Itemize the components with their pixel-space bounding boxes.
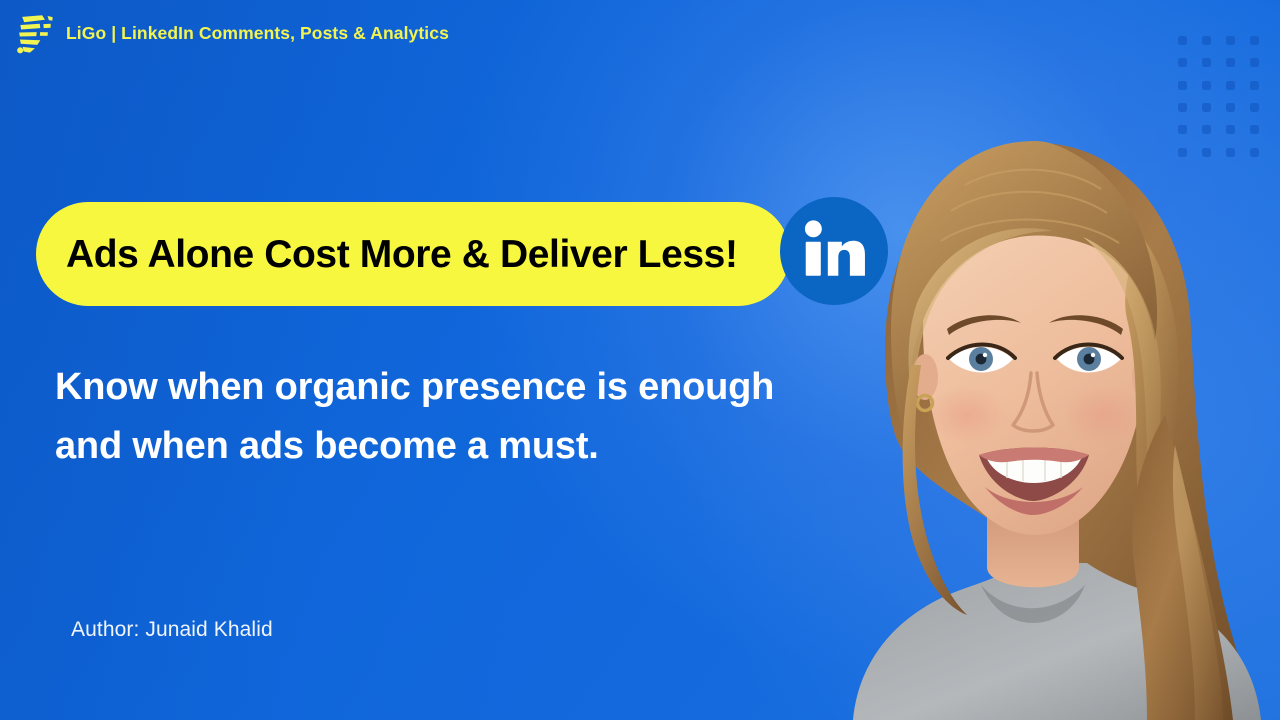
headline-pill: Ads Alone Cost More & Deliver Less! — [36, 202, 790, 306]
author-credit: Author: Junaid Khalid — [71, 618, 273, 642]
brand-header: LiGo | LinkedIn Comments, Posts & Analyt… — [16, 14, 449, 54]
page-title: Ads Alone Cost More & Deliver Less! — [66, 235, 738, 274]
post-banner: Ads Alone Cost More & Deliver Less! — [0, 0, 1280, 720]
subtitle-line-2: and when ads become a must. — [55, 417, 855, 476]
brand-title: LiGo | LinkedIn Comments, Posts & Analyt… — [66, 25, 449, 43]
ligo-fan-logo-icon — [16, 14, 54, 54]
subtitle-block: Know when organic presence is enough and… — [55, 358, 855, 476]
linkedin-icon[interactable] — [780, 197, 888, 305]
subtitle-line-1: Know when organic presence is enough — [55, 358, 855, 417]
